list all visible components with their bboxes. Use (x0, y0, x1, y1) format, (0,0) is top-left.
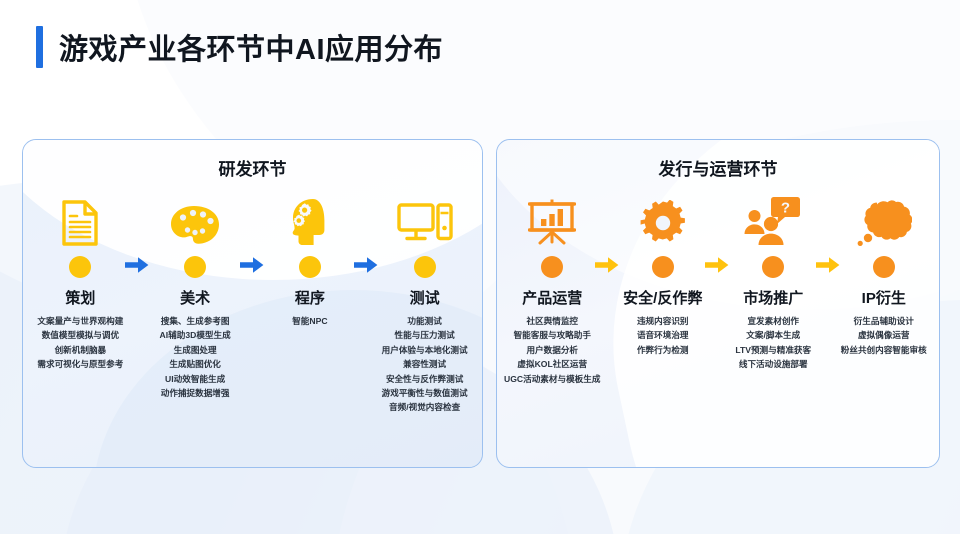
stage-市场推广[interactable]: ? 市场推广宣发素材创作文案/脚本生成LTV预测与精准获客线下活动设施部署 (718, 186, 829, 384)
stage-dot (414, 256, 436, 278)
stage-item: 宣发素材创作 (747, 317, 799, 327)
stage-label: 程序 (295, 287, 325, 308)
head-gears-icon (287, 186, 333, 246)
stage-item: 生成贴图优化 (169, 360, 221, 370)
panel-operations: 发行与运营环节 产品运营社区舆情监控智能客服与攻略助手用户数据分析虚拟KOL社区… (496, 139, 940, 468)
stage-item: 动作捕捉数据增强 (161, 389, 230, 399)
svg-text:?: ? (781, 200, 790, 217)
development-stage-list: 策划文案量产与世界观构建数值模型模拟与调优创新机制脑暴需求可视化与原型参考 美术… (23, 186, 482, 413)
stage-dot (873, 256, 895, 278)
stage-item: 智能客服与攻略助手 (514, 331, 591, 341)
stage-label: 策划 (65, 287, 95, 308)
stage-程序[interactable]: 程序智能NPC (253, 186, 368, 413)
stage-label: 安全/反作弊 (623, 287, 702, 308)
stage-item-list: 智能NPC (292, 317, 327, 327)
desktop-computer-icon (397, 186, 453, 246)
stage-item: 虚拟KOL社区运营 (517, 360, 587, 370)
title-text: 游戏产业各环节中AI应用分布 (59, 26, 443, 68)
presentation-chart-icon (528, 186, 576, 246)
stage-安全/反作弊[interactable]: 安全/反作弊违规内容识别语音环境治理作弊行为检测 (608, 186, 719, 384)
stage-item: 功能测试 (407, 317, 441, 327)
stage-label: IP衍生 (862, 287, 906, 308)
stage-item: LTV预测与精准获客 (735, 346, 811, 356)
stage-item: 数值模型模拟与调优 (42, 331, 119, 341)
stage-item-list: 功能测试性能与压力测试用户体验与本地化测试兼容性测试安全性与反作弊测试游戏平衡性… (382, 317, 468, 413)
panel-development-title: 研发环节 (23, 140, 482, 180)
stage-item: 社区舆情监控 (526, 317, 578, 327)
stage-item: 用户数据分析 (526, 346, 578, 356)
stage-dot (541, 256, 563, 278)
stage-item: 安全性与反作弊测试 (386, 375, 463, 385)
panel-development: 研发环节 策划文案量产与世界观构建数值模型模拟与调优创新机制脑暴需求可视化与原型… (22, 139, 483, 468)
stage-策划[interactable]: 策划文案量产与世界观构建数值模型模拟与调优创新机制脑暴需求可视化与原型参考 (23, 186, 138, 413)
stage-label: 测试 (410, 287, 440, 308)
stage-item: 虚拟偶像运营 (858, 331, 910, 341)
stage-item: 文案量产与世界观构建 (37, 317, 123, 327)
stage-dot (652, 256, 674, 278)
stage-item: 粉丝共创内容智能审核 (841, 346, 927, 356)
stage-item-list: 违规内容识别语音环境治理作弊行为检测 (637, 317, 689, 356)
stage-item: 语音环境治理 (637, 331, 689, 341)
stage-dot (184, 256, 206, 278)
stage-item-list: 搜集、生成参考图AI辅助3D模型生成生成图处理生成贴图优化UI动效智能生成动作捕… (160, 317, 231, 399)
stage-item: UGC活动素材与模板生成 (504, 375, 600, 385)
stage-label: 美术 (180, 287, 210, 308)
stage-dot (69, 256, 91, 278)
stage-item: 创新机制脑暴 (55, 346, 107, 356)
document-icon (60, 186, 100, 246)
thought-cloud-icon (856, 186, 912, 246)
title-accent-bar (36, 26, 43, 68)
stage-item: 生成图处理 (174, 346, 217, 356)
page-title: 游戏产业各环节中AI应用分布 (36, 26, 443, 68)
stage-item: 线下活动设施部署 (739, 360, 808, 370)
stage-item: 性能与压力测试 (395, 331, 455, 341)
stage-item: 用户体验与本地化测试 (382, 346, 468, 356)
stage-dot (299, 256, 321, 278)
stage-item-list: 社区舆情监控智能客服与攻略助手用户数据分析虚拟KOL社区运营UGC活动素材与模板… (504, 317, 600, 384)
stage-label: 产品运营 (522, 287, 582, 308)
operations-stage-list: 产品运营社区舆情监控智能客服与攻略助手用户数据分析虚拟KOL社区运营UGC活动素… (497, 186, 939, 384)
stage-item: 搜集、生成参考图 (161, 317, 230, 327)
stage-item-list: 文案量产与世界观构建数值模型模拟与调优创新机制脑暴需求可视化与原型参考 (37, 317, 123, 370)
stage-item: 违规内容识别 (637, 317, 689, 327)
stage-item: 音频/视觉内容检查 (389, 403, 460, 413)
palette-icon (169, 186, 221, 246)
stage-item: AI辅助3D模型生成 (160, 331, 231, 341)
people-question-icon: ? (744, 186, 802, 246)
stage-item: 衍生品辅助设计 (854, 317, 914, 327)
gear-icon (640, 186, 686, 246)
stage-item: 作弊行为检测 (637, 346, 689, 356)
panel-operations-title: 发行与运营环节 (497, 140, 939, 180)
stage-item: 游戏平衡性与数值测试 (382, 389, 468, 399)
stage-item: 兼容性测试 (403, 360, 446, 370)
stage-dot (762, 256, 784, 278)
stage-item-list: 衍生品辅助设计虚拟偶像运营粉丝共创内容智能审核 (841, 317, 927, 356)
stage-item: 智能NPC (292, 317, 327, 327)
stage-美术[interactable]: 美术搜集、生成参考图AI辅助3D模型生成生成图处理生成贴图优化UI动效智能生成动… (138, 186, 253, 413)
stage-测试[interactable]: 测试功能测试性能与压力测试用户体验与本地化测试兼容性测试安全性与反作弊测试游戏平… (367, 186, 482, 413)
stage-产品运营[interactable]: 产品运营社区舆情监控智能客服与攻略助手用户数据分析虚拟KOL社区运营UGC活动素… (497, 186, 608, 384)
stage-label: 市场推广 (743, 287, 803, 308)
stage-item: UI动效智能生成 (165, 375, 225, 385)
stage-IP衍生[interactable]: IP衍生衍生品辅助设计虚拟偶像运营粉丝共创内容智能审核 (829, 186, 940, 384)
stage-item: 需求可视化与原型参考 (37, 360, 123, 370)
stage-item-list: 宣发素材创作文案/脚本生成LTV预测与精准获客线下活动设施部署 (735, 317, 811, 370)
stage-item: 文案/脚本生成 (746, 331, 800, 341)
